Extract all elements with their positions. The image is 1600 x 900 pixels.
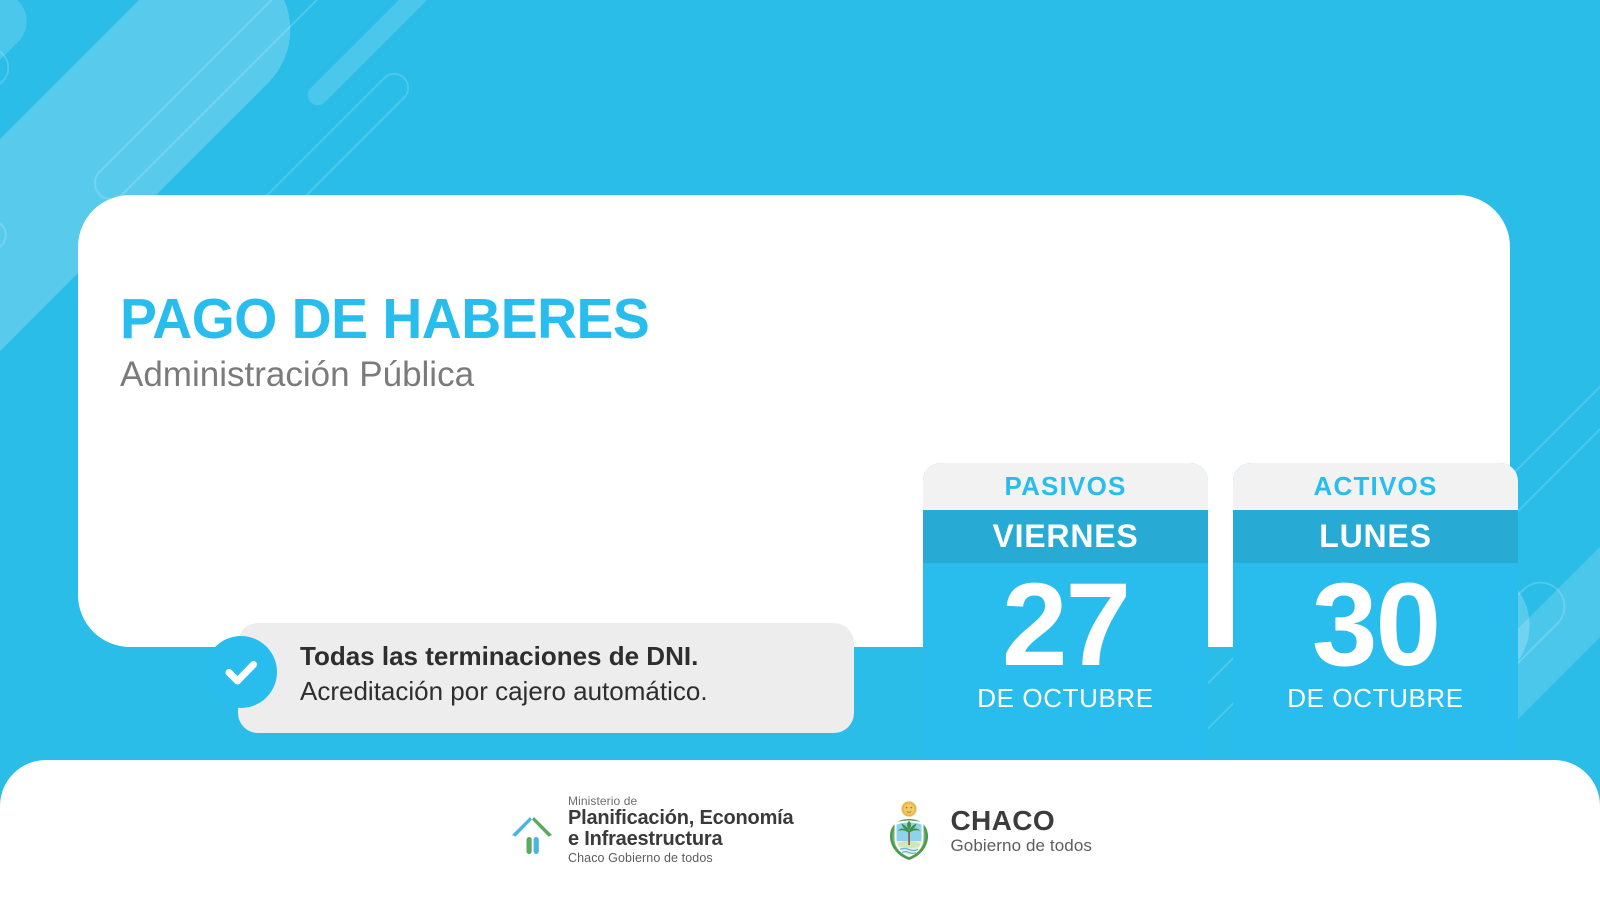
chaco-logo: CHACO Gobierno de todos xyxy=(881,797,1092,863)
note-line-2: Acreditación por cajero automático. xyxy=(300,674,845,709)
date-card-activos: ACTIVOS LUNES 30 DE OCTUBRE xyxy=(1233,463,1518,775)
date-card-day: 27 xyxy=(1002,565,1129,685)
main-content-card: PAGO DE HABERES Administración Pública T… xyxy=(78,195,1510,647)
poster-canvas: PAGO DE HABERES Administración Pública T… xyxy=(0,0,1600,900)
note-line-1: Todas las terminaciones de DNI. xyxy=(300,639,845,674)
page-title: PAGO DE HABERES xyxy=(120,291,818,348)
ministry-tagline: Chaco Gobierno de todos xyxy=(568,852,793,865)
date-card-group: PASIVOS VIERNES 27 DE OCTUBRE ACTIVOS LU… xyxy=(923,463,1518,775)
deco-bar xyxy=(87,0,347,207)
ministry-name-line-2: e Infraestructura xyxy=(568,829,793,850)
chaco-logo-words: CHACO Gobierno de todos xyxy=(950,805,1092,855)
ministry-logo-words: Ministerio de Planificación, Economía e … xyxy=(568,795,793,864)
date-card-weekday: LUNES xyxy=(1233,510,1518,563)
date-card-day: 30 xyxy=(1312,565,1439,685)
footer-band: Ministerio de Planificación, Economía e … xyxy=(0,760,1600,900)
ministry-name-line-1: Planificación, Economía xyxy=(568,808,793,829)
deco-bar xyxy=(0,0,39,460)
date-card-body: 27 DE OCTUBRE xyxy=(923,563,1208,775)
date-card-pasivos: PASIVOS VIERNES 27 DE OCTUBRE xyxy=(923,463,1208,775)
date-card-body: 30 DE OCTUBRE xyxy=(1233,563,1518,775)
note-text: Todas las terminaciones de DNI. Acredita… xyxy=(300,639,845,709)
ministry-logo: Ministerio de Planificación, Economía e … xyxy=(508,795,793,864)
deco-bar xyxy=(0,39,18,374)
date-card-weekday: VIERNES xyxy=(923,510,1208,563)
chaco-name: CHACO xyxy=(950,805,1092,836)
deco-bar xyxy=(0,214,13,450)
footer-logos: Ministerio de Planificación, Economía e … xyxy=(0,760,1600,900)
headline-block: PAGO DE HABERES Administración Pública xyxy=(120,291,840,395)
date-card-group-label: ACTIVOS xyxy=(1233,463,1518,510)
check-circle-icon xyxy=(205,636,277,708)
deco-bar xyxy=(304,0,452,109)
date-card-month: DE OCTUBRE xyxy=(977,683,1153,714)
house-roof-icon xyxy=(508,804,556,856)
date-card-month: DE OCTUBRE xyxy=(1287,683,1463,714)
chaco-coat-of-arms-icon xyxy=(881,797,937,863)
date-card-group-label: PASIVOS xyxy=(923,463,1208,510)
page-subtitle: Administración Pública xyxy=(120,356,840,395)
chaco-tagline: Gobierno de todos xyxy=(950,836,1092,855)
